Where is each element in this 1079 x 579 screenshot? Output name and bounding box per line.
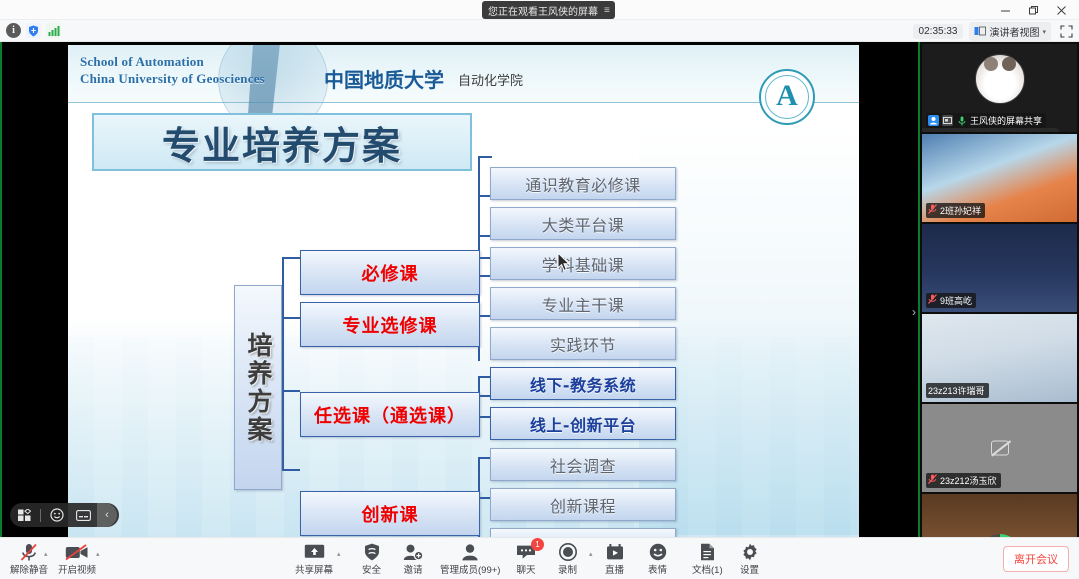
documents-button[interactable]: 文档(1) [692, 541, 723, 578]
record-label: 录制 [558, 562, 577, 576]
diagram-leaf-label: 学科基础课 [542, 252, 625, 276]
diagram-node-label: 必修课 [362, 260, 419, 286]
connector [282, 257, 300, 259]
participant-tile[interactable]: 23z212汤玉欣 [922, 404, 1077, 492]
chat-button[interactable]: 1 聊天 [516, 541, 536, 578]
meeting-toolbar: 解除静音 ▴ 开启视频 ▴ 共享屏幕 ▴ [0, 537, 1079, 579]
status-icon-group: i [6, 23, 61, 38]
chat-bubble-icon: 1 [516, 543, 536, 561]
participant-tile[interactable]: 9班高屹 [922, 224, 1077, 312]
participant-nametag: 23z213许瑞哥 [926, 383, 989, 398]
mic-muted-icon [928, 294, 937, 307]
maximize-restore-button[interactable] [1019, 0, 1047, 20]
diagram-leaf-major-core: 专业主干课 [490, 287, 676, 320]
annotation-toolbar[interactable]: ‹ [10, 503, 119, 527]
screen-share-banner: 您正在观看王风侠的屏幕 ≡ [482, 1, 615, 19]
shared-screen-stage[interactable]: School of Automation China University of… [0, 42, 920, 537]
participant-name: 2班孙妃祥 [940, 204, 981, 217]
security-label: 安全 [362, 562, 381, 576]
window-titlebar: 您正在观看王风侠的屏幕 ≡ [0, 0, 1079, 20]
emoji-label: 表情 [648, 562, 667, 576]
settings-button[interactable]: 设置 [740, 541, 759, 578]
invite-label: 邀请 [403, 562, 422, 576]
participants-icon [461, 543, 479, 561]
chat-label: 聊天 [516, 562, 535, 576]
meeting-timer: 02:35:33 [913, 24, 964, 39]
mic-muted-icon [928, 204, 937, 217]
emoji-icon [649, 543, 667, 561]
shield-icon[interactable] [26, 23, 41, 38]
fullscreen-button[interactable] [1057, 24, 1075, 40]
diagram-leaf-label: 创新课程 [550, 493, 616, 517]
record-button[interactable]: 录制 [558, 541, 577, 578]
diagram-leaf-online-platform: 线上-创新平台 [490, 407, 676, 440]
collapse-icon[interactable]: ‹ [97, 503, 117, 527]
diagram-leaf-label: 社会调查 [550, 453, 616, 477]
hamburger-icon[interactable]: ≡ [604, 5, 609, 16]
panel-collapse-button[interactable]: › [908, 295, 920, 329]
speaker-view-icon [974, 26, 986, 37]
mic-options-caret-icon[interactable]: ▴ [44, 550, 48, 558]
curriculum-diagram: 培养方案 必修课 专业选修课 任选课（通选课） 创新课 [68, 45, 859, 537]
participant-nametag: 王风侠的屏幕共享 [926, 113, 1046, 128]
camera-off-icon [991, 441, 1009, 456]
active-speaker-pill: 正在讲话: 王风侠; ↩ [922, 128, 1059, 132]
avatar [975, 54, 1025, 104]
diagram-leaf-label: 实践环节 [550, 332, 616, 356]
diagram-leaf-general-education: 通识教育必修课 [490, 167, 676, 200]
connector [478, 156, 492, 158]
diagram-leaf-label: 线上-创新平台 [530, 412, 636, 436]
right-status-group: 02:35:33 演讲者视图 ▾ [913, 22, 1075, 41]
diagram-leaf-offline-system: 线下-教务系统 [490, 367, 676, 400]
diagram-leaf-label: 专业主干课 [542, 292, 625, 316]
window-controls [991, 0, 1075, 20]
camera-options-caret-icon[interactable]: ▴ [96, 550, 100, 558]
diagram-leaf-platform-course: 大类平台课 [490, 207, 676, 240]
share-options-caret-icon[interactable]: ▴ [337, 550, 341, 558]
security-button[interactable]: 安全 [362, 541, 381, 578]
participant-name: 23z213许瑞哥 [928, 384, 985, 397]
diagram-leaf-label: 大类平台课 [542, 212, 625, 236]
document-icon [700, 543, 715, 561]
start-video-button[interactable]: 开启视频 [58, 541, 96, 578]
reaction-emoji-icon[interactable] [45, 503, 69, 527]
network-signal-icon[interactable] [46, 23, 61, 38]
participant-tile-sharer[interactable]: 王风侠的屏幕共享 正在讲话: 王风侠; ↩ [922, 44, 1077, 132]
settings-gear-icon [741, 543, 759, 561]
settings-label: 设置 [740, 562, 759, 576]
close-button[interactable] [1047, 0, 1075, 20]
diagram-leaf-discipline-basics: 学科基础课 [490, 247, 676, 280]
share-border: School of Automation China University of… [0, 42, 920, 537]
manage-participants-button[interactable]: 管理成员(99+) [440, 541, 500, 578]
diagram-node-free-elective: 任选课（通选课） [300, 392, 480, 437]
diagram-node-label: 创新课 [362, 501, 419, 527]
manage-participants-label: 管理成员(99+) [440, 562, 500, 576]
participant-rail: 王风侠的屏幕共享 正在讲话: 王风侠; ↩ 2班孙妃祥 [920, 42, 1079, 537]
share-screen-icon [304, 543, 325, 561]
record-options-caret-icon[interactable]: ▴ [589, 550, 593, 558]
share-banner-text: 您正在观看王风侠的屏幕 [488, 3, 598, 18]
participant-nametag: 9班高屹 [926, 293, 976, 308]
share-screen-label: 共享屏幕 [295, 562, 333, 576]
connector [282, 257, 284, 471]
diagram-leaf-label: 线下-教务系统 [530, 372, 636, 396]
meeting-window: 您正在观看王风侠的屏幕 ≡ i [0, 0, 1079, 579]
documents-label: 文档(1) [692, 562, 723, 576]
participant-nametag: 2班孙妃祥 [926, 203, 985, 218]
security-shield-icon [364, 543, 380, 561]
chat-unread-badge: 1 [531, 538, 544, 551]
diagram-node-major-elective: 专业选修课 [300, 302, 480, 347]
view-mode-selector[interactable]: 演讲者视图 ▾ [969, 22, 1051, 41]
host-icon [928, 115, 939, 126]
connector [282, 390, 300, 392]
diagram-root-node: 培养方案 [234, 285, 282, 490]
diagram-leaf-practice: 实践环节 [490, 327, 676, 360]
view-mode-label: 演讲者视图 [989, 24, 1039, 39]
info-icon[interactable]: i [6, 23, 21, 38]
participant-name: 9班高屹 [940, 294, 972, 307]
mic-muted-icon [20, 543, 38, 561]
participant-tile[interactable]: ↑ 15.3 K/s ↓ 298 K/s 82% [922, 494, 1077, 537]
mute-button[interactable]: 解除静音 [10, 541, 48, 578]
participant-tile[interactable]: 2班孙妃祥 [922, 134, 1077, 222]
invite-button[interactable]: 邀请 [403, 541, 423, 578]
diagram-node-label: 专业选修课 [343, 312, 438, 338]
diagram-leaf-social-survey: 社会调查 [490, 448, 676, 481]
diagram-node-required: 必修课 [300, 250, 480, 295]
mic-on-icon [956, 115, 967, 126]
subtitle-icon[interactable] [71, 503, 95, 527]
mic-muted-icon [928, 474, 937, 487]
live-stream-icon [606, 543, 624, 561]
live-stream-button[interactable]: 直播 [605, 541, 624, 578]
record-icon [559, 543, 577, 561]
presentation-slide: School of Automation China University of… [68, 45, 859, 537]
diagram-leaf-innovation-result: 创新成果 [490, 528, 676, 537]
start-video-button-label: 开启视频 [58, 562, 96, 576]
participant-tile[interactable]: 23z213许瑞哥 [922, 314, 1077, 402]
screen-share-icon [942, 115, 953, 126]
live-stream-label: 直播 [605, 562, 624, 576]
participant-name: 23z212汤玉欣 [940, 474, 997, 487]
network-quality-donut: 82% [980, 534, 1020, 537]
minimize-button[interactable] [991, 0, 1019, 20]
diagram-node-innovation: 创新课 [300, 491, 480, 536]
diagram-root-label: 培养方案 [240, 332, 276, 444]
diagram-leaf-label: 通识教育必修课 [525, 172, 641, 196]
meeting-status-bar: i 02:35:33 演讲者视图 ▾ [0, 20, 1079, 42]
diagram-leaf-innovation-course: 创新课程 [490, 488, 676, 521]
network-stats-overlay: ↑ 15.3 K/s ↓ 298 K/s 82% [932, 534, 1020, 537]
camera-off-icon [65, 543, 89, 561]
diagram-node-label: 任选课（通选课） [314, 402, 466, 428]
participant-nametag: 23z212汤玉欣 [926, 473, 1001, 488]
connector [282, 317, 300, 319]
share-screen-button[interactable]: 共享屏幕 [295, 541, 333, 578]
invite-person-icon [403, 543, 423, 561]
participant-name: 王风侠的屏幕共享 [970, 114, 1042, 127]
leave-meeting-button[interactable]: 离开会议 [1003, 546, 1069, 572]
connector [282, 469, 300, 471]
mute-button-label: 解除静音 [10, 562, 48, 576]
emoji-button[interactable]: 表情 [648, 541, 667, 578]
chevron-down-icon: ▾ [1042, 28, 1046, 36]
annotate-icon[interactable] [12, 503, 36, 527]
divider [40, 509, 41, 522]
